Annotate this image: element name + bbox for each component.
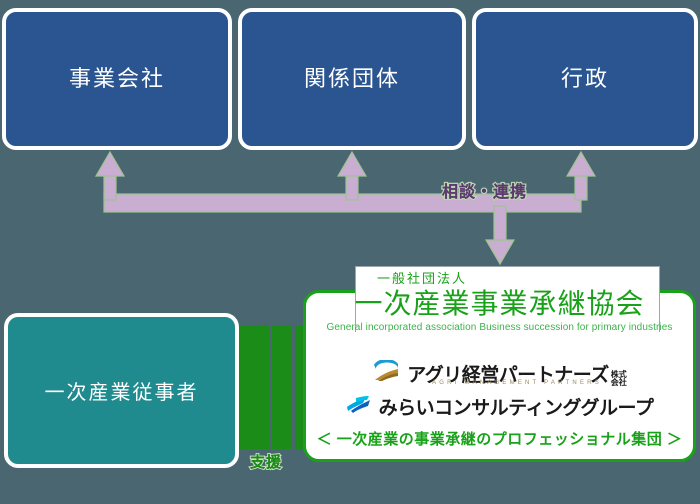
partner-row-mirai[interactable]: みらいコンサルティンググループ [303,392,696,420]
stakeholder-label-kankei: 関係団体 [304,68,400,90]
support-stripe-1 [239,325,269,449]
stakeholder-label-gyosei: 行政 [561,68,609,90]
association-heading-block: 一般社団法人 一次産業事業承継協会 General incorporated a… [303,268,696,333]
partner-name-mirai: みらいコンサルティンググループ [379,393,654,420]
mirai-logo-icon [346,394,372,419]
stakeholder-label-jigyo: 事業会社 [69,68,165,90]
partner-sub-en-agri: AGRI MANAGEMENT PARTNERS [407,380,627,386]
association-english-name: General incorporated association Busines… [303,322,696,333]
agri-name-wrap: アグリ経営パートナーズ 株式 会社 AGRI MANAGEMENT PARTNE… [407,360,627,387]
worker-label: 一次産業従事者 [45,376,199,405]
association-tagline: ＜ 一次産業の事業承継のプロフェッショナル集団 ＞ [303,428,696,449]
association-name: 一次産業事業承継協会 [303,288,696,319]
stakeholder-box-gyosei[interactable]: 行政 [472,8,698,150]
support-label: 支援 [250,451,282,472]
stakeholder-box-jigyo[interactable]: 事業会社 [2,8,232,150]
consultation-arrow-label: 相談・連携 [442,178,527,202]
association-kind: 一般社団法人 [319,268,696,287]
support-stripe-2 [272,325,292,449]
partner-row-agri[interactable]: アグリ経営パートナーズ 株式 会社 AGRI MANAGEMENT PARTNE… [303,358,696,388]
worker-box[interactable]: 一次産業従事者 [4,313,239,468]
agri-logo-icon [372,360,400,387]
diagram-canvas: 事業会社 関係団体 行政 相談 [0,0,700,504]
stakeholder-box-kankei[interactable]: 関係団体 [238,8,466,150]
